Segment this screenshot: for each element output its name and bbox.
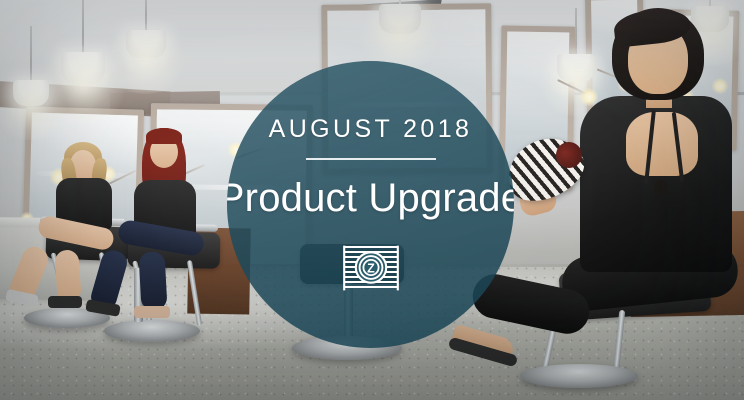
lower-leg: [139, 251, 168, 310]
necklace-pendant: [654, 180, 668, 196]
hair-fringe: [146, 128, 182, 144]
badge-title: Product Upgrade: [227, 178, 514, 219]
pendant-light: [12, 26, 50, 122]
zenoti-z-logo-icon: Z: [343, 244, 399, 292]
shoe: [134, 306, 170, 318]
badge-date-label: AUGUST 2018: [269, 117, 473, 142]
chest: [626, 112, 698, 176]
pendant-light: [126, 0, 166, 84]
salon-chair-base: [104, 320, 200, 342]
teal-circle-overlay: AUGUST 2018 Product Upgrade: [227, 61, 514, 348]
pendant-glow: [104, 24, 188, 94]
badge-content: AUGUST 2018 Product Upgrade: [227, 117, 514, 293]
logo-letter: Z: [367, 262, 375, 276]
lower-leg: [54, 249, 82, 303]
shoe: [48, 296, 82, 308]
pendant-light: [378, 0, 422, 64]
product-upgrade-banner: AUGUST 2018 Product Upgrade: [0, 0, 744, 400]
salon-chair-base: [520, 364, 638, 388]
pendant-light: [60, 0, 106, 108]
sconce-bulb: [712, 78, 728, 94]
pendant-glow: [356, 0, 444, 70]
badge-divider: [306, 158, 436, 160]
pendant-light: [556, 8, 596, 98]
